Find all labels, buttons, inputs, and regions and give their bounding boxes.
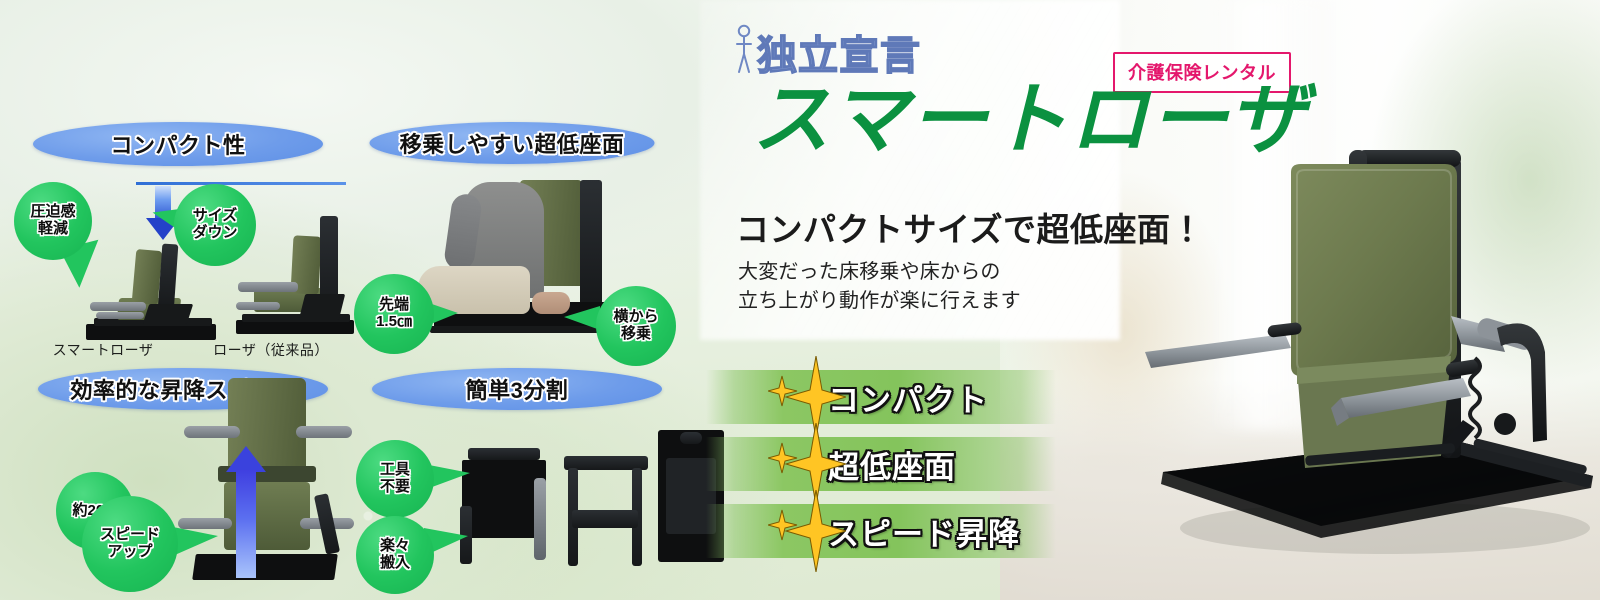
bubble-line-1: 横から [613,309,658,326]
sub-logo-declaration: 独立宣言 [733,24,921,76]
subheadline-line-2: 立ち上がり動作が楽に行えます [738,287,1021,316]
bubble-speed-up: スピード アップ [82,496,178,592]
hero-product-photo [1145,120,1600,570]
panel-title-pill-compactness: コンパクト性 [33,122,323,166]
panel-three-way-split: 簡単3分割 工具 不要 楽々 搬入 [352,368,682,593]
feature-bar-label: 超低座面 [828,442,956,487]
panel-title-label: 簡単3分割 [466,373,569,405]
standing-person-icon [733,24,755,76]
bubble-line-2: 移乗 [621,326,651,343]
feature-bar-ultra-low-seat: 超低座面 [706,437,1056,491]
feature-bar-label: コンパクト [828,375,988,420]
bubble-size-down: サイズ ダウン [174,184,256,266]
panel-title-label: 移乗しやすい超低座面 [400,127,625,159]
bubble-easy-carry: 楽々 搬入 [356,516,434,594]
bubble-line-2: スピード [100,527,160,544]
feature-bar-speed-lift: スピード昇降 [706,504,1056,558]
bubble-line-1: 先端 [379,297,409,314]
bubble-no-tools: 工具 不要 [356,440,434,518]
bubble-line-1: 工具 [380,462,410,479]
bubble-line-2: 1.5㎝ [376,314,412,331]
comparison-rule [136,182,346,185]
bubble-line-2: 軽減 [38,221,68,238]
photo-part-seat-unit [460,448,552,566]
caption-roza-legacy: ローザ（従来品） [186,340,356,360]
bubble-line-2: 搬入 [380,555,410,572]
bubble-line-1: サイズ [193,208,238,225]
bubble-line-2: ダウン [192,225,237,242]
promo-banner: コンパクト性 [0,0,1600,600]
speed-up-arrow [226,446,266,578]
panel-compactness: コンパクト性 [8,122,348,367]
panel-lift-speed: 効率的な昇降スピード 約20% スピード アップ [18,368,348,593]
panel-title-pill-split: 簡単3分割 [372,368,662,410]
panel-easy-transfer: 移乗しやすい超低座面 先端 1.5㎝ 横から 移乗 [352,122,672,367]
caption-smart-roza: スマートローザ [8,340,198,360]
headline-text: コンパクトサイズで超低座面！ [736,203,1204,251]
bubble-line-1: 圧迫感 [30,204,75,221]
bubble-line-3: アップ [107,544,152,561]
subheadline-text: 大変だった床移乗や床からの 立ち上がり動作が楽に行えます [738,258,1021,316]
bubble-pressure-relief: 圧迫感 軽減 [14,182,92,260]
photo-part-frame-unit [564,456,648,568]
panel-title-label: コンパクト性 [110,128,245,160]
feature-bar-label: スピード昇降 [828,509,1020,554]
bubble-line-1: 楽々 [380,538,410,555]
panel-title-pill-transfer: 移乗しやすい超低座面 [370,122,655,164]
feature-bar-compact: コンパクト [706,370,1056,424]
bubble-side-transfer: 横から 移乗 [596,286,676,366]
sub-logo-text: 独立宣言 [757,36,921,76]
bubble-tail-side-transfer [564,306,600,330]
bubble-line-2: 不要 [380,479,410,496]
bubble-front-edge-height: 先端 1.5㎝ [354,274,434,354]
subheadline-line-1: 大変だった床移乗や床からの [738,258,1021,287]
